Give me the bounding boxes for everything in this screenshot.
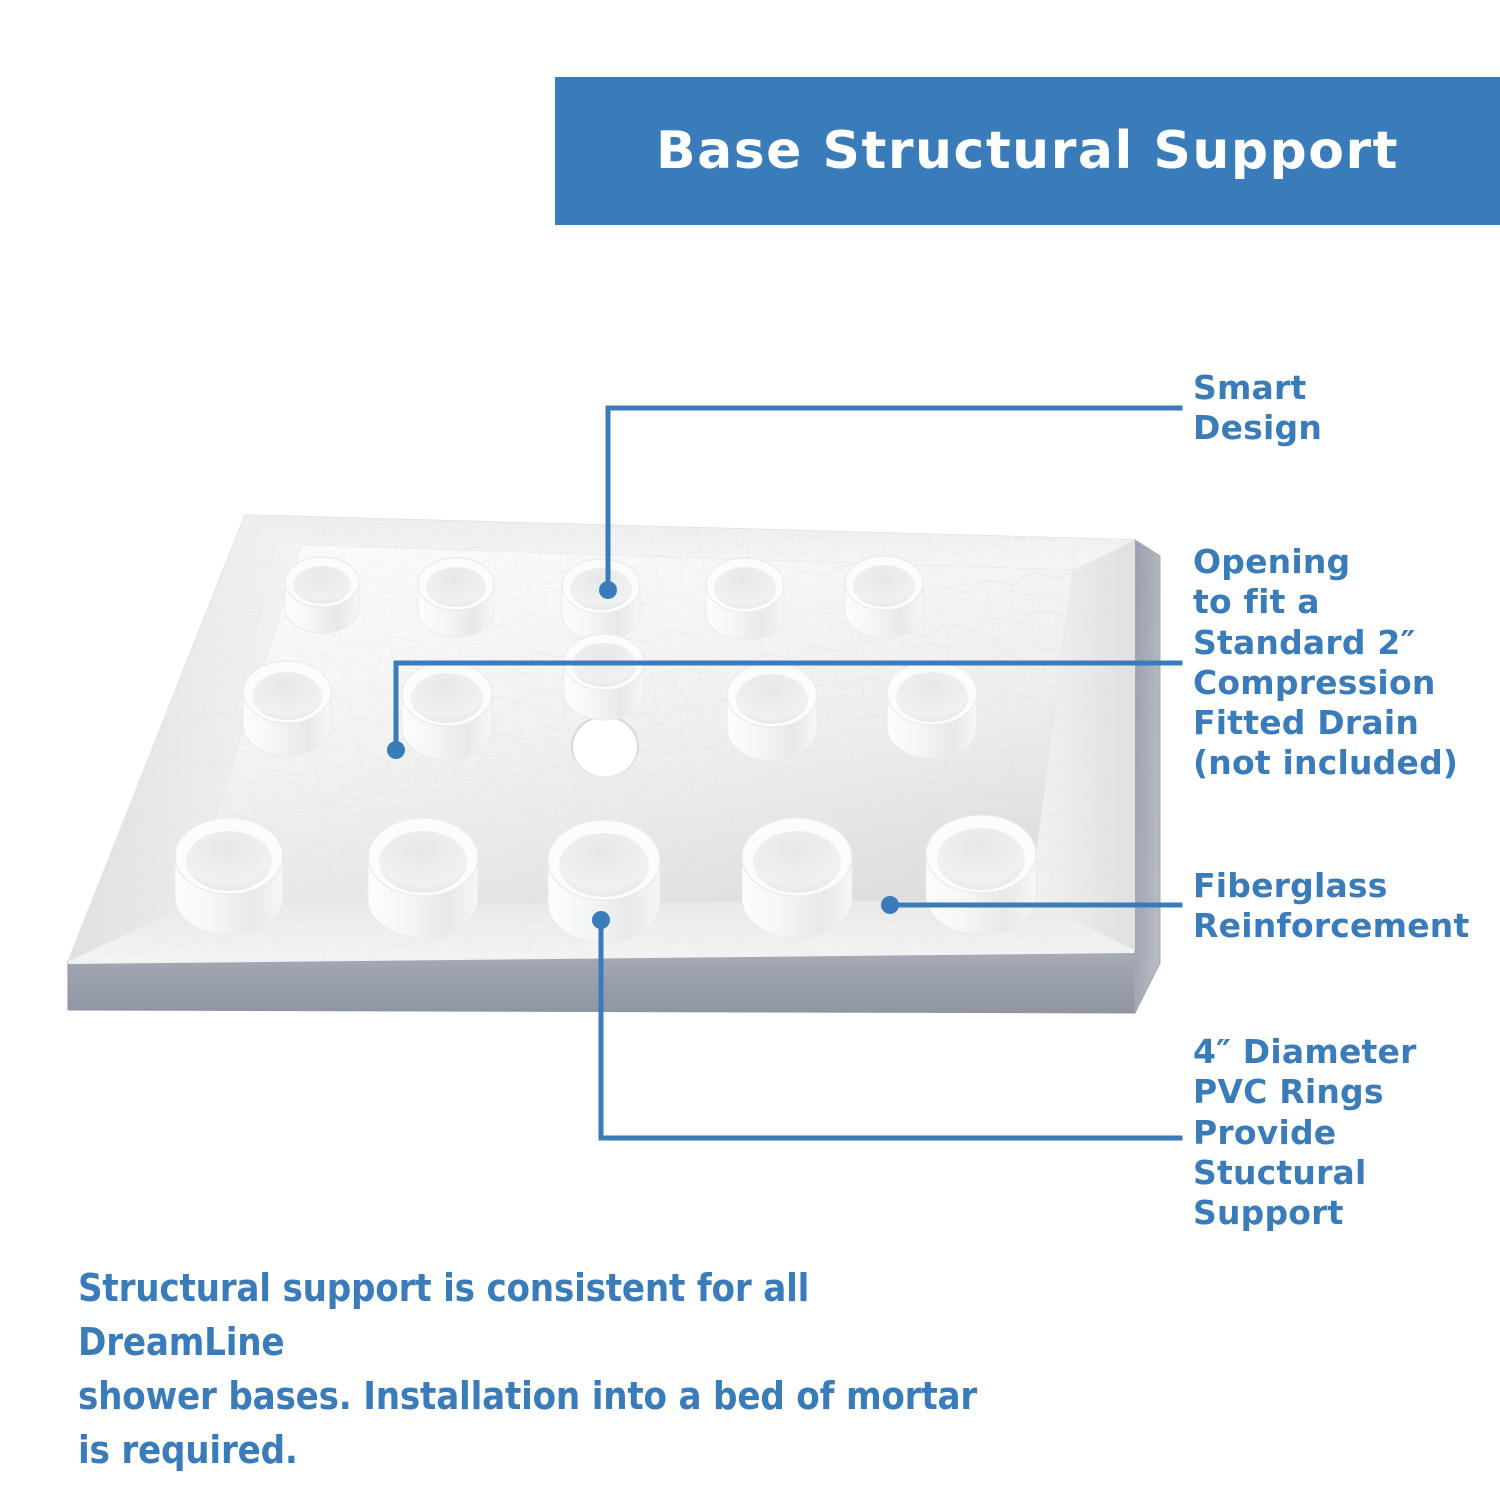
leader-dot-icon [592,911,610,929]
pvc-ring-group [175,556,1036,943]
pvc-ring [926,815,1036,935]
pvc-ring [402,662,492,760]
pvc-ring [887,661,977,759]
pvc-ring [285,557,359,633]
pvc-ring [418,558,494,637]
callout-leader-lines [387,408,1180,1138]
page-title: Base Structural Support [656,121,1399,181]
pvc-ring [564,634,644,720]
footer-note: Structural support is consistent for all… [78,1262,998,1478]
pvc-ring [845,556,923,638]
pvc-ring [727,663,817,761]
rim-wall-back [245,515,1135,570]
drain-opening [571,715,639,777]
pvc-ring [562,559,640,641]
base-front-side [68,950,1135,1013]
leader-line-fiberglass [881,896,1180,914]
pvc-ring [742,818,852,938]
pvc-ring [243,661,331,756]
infographic-page: Base Structural Support [0,0,1500,1500]
leader-dot-icon [387,741,405,759]
header-banner: Base Structural Support [555,77,1500,225]
pvc-ring [706,558,784,640]
rim-wall-left [68,515,302,962]
rim-wall-right [1030,540,1135,950]
shower-base-body [68,515,1160,1013]
pvc-ring [368,818,478,938]
base-top-rim [68,515,1135,962]
pvc-ring [548,820,660,943]
pvc-ring [175,818,283,935]
leader-dot-icon [599,581,617,599]
leader-line-opening [387,663,1180,759]
pan-floor [188,545,1073,905]
leader-dot-icon [881,896,899,914]
leader-line-smart-design [599,408,1180,599]
callout-label-fiberglass: Fiberglass Reinforcement [1193,866,1469,947]
callout-label-pvc-rings: 4″ Diameter PVC Rings Provide Stuctural … [1193,1032,1417,1233]
callout-label-opening: Opening to fit a Standard 2″ Compression… [1193,542,1458,784]
base-right-side [1135,540,1160,1013]
callout-label-smart-design: Smart Design [1193,368,1322,449]
rim-wall-front [68,900,1135,962]
leader-line-pvc-rings [592,911,1180,1138]
